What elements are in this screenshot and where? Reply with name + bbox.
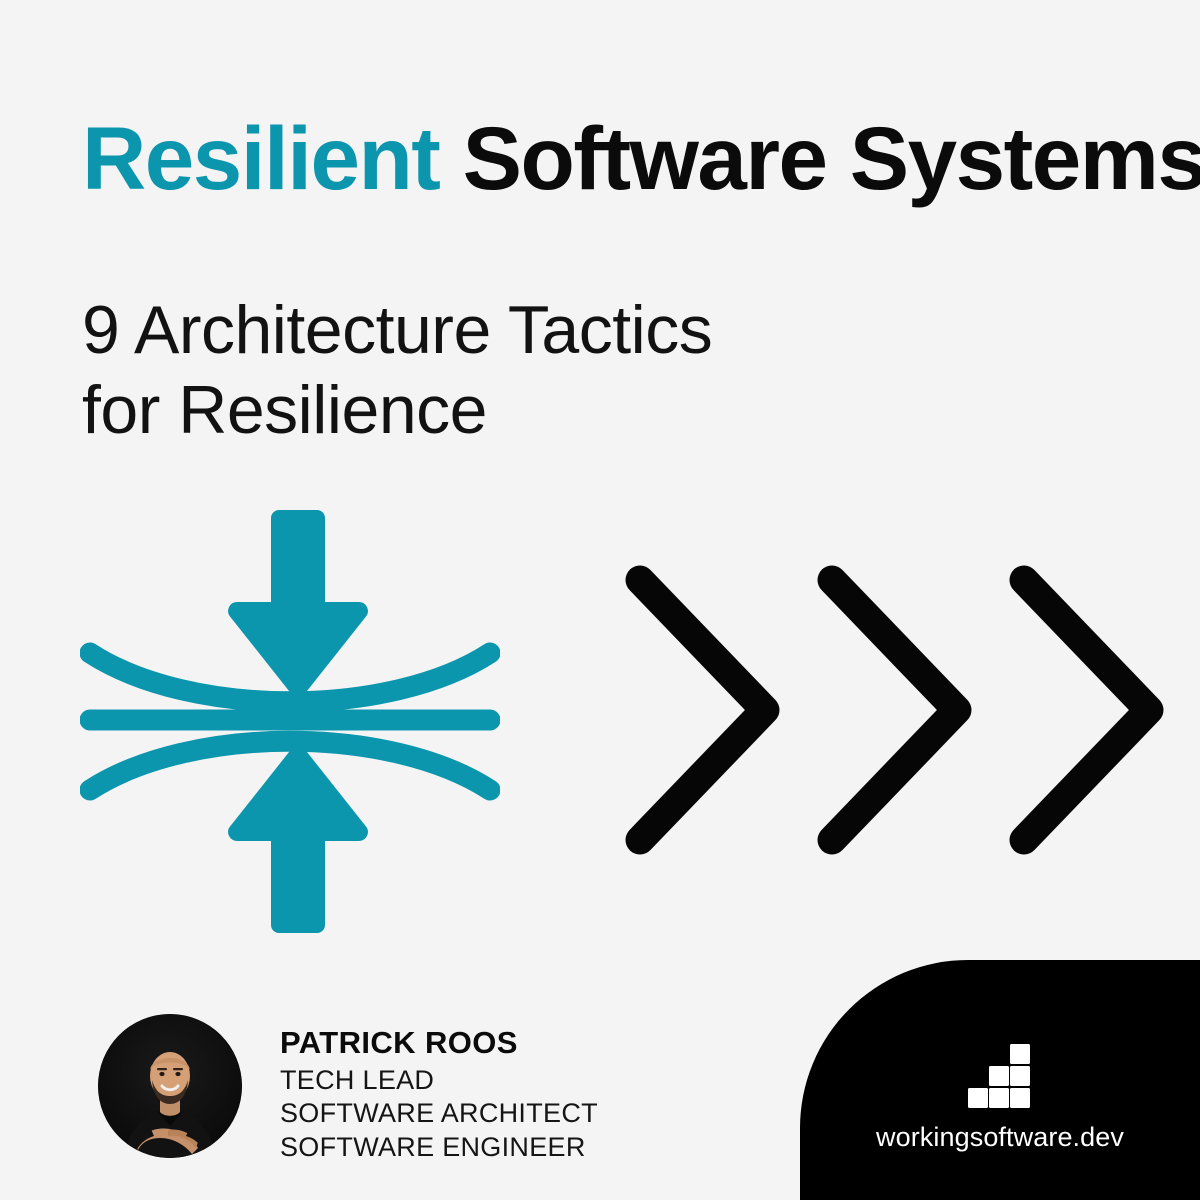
author-role-1: TECH LEAD	[280, 1064, 598, 1097]
page-title: Resilient Software Systems	[82, 112, 1200, 205]
chevron-3	[1024, 580, 1149, 840]
author-role-3: SOFTWARE ENGINEER	[280, 1131, 598, 1164]
poster-canvas: Resilient Software Systems 9 Architectur…	[0, 0, 1200, 1200]
author-block: PATRICK ROOS TECH LEAD SOFTWARE ARCHITEC…	[98, 1014, 598, 1164]
author-role-2: SOFTWARE ARCHITECT	[280, 1097, 598, 1130]
chevron-2	[832, 580, 957, 840]
author-name: PATRICK ROOS	[280, 1026, 598, 1061]
graphic-band	[0, 490, 1200, 960]
brand-badge[interactable]: workingsoftware.dev	[800, 960, 1200, 1200]
page-subtitle-line-2: for Resilience	[82, 370, 712, 450]
page-subtitle: 9 Architecture Tactics for Resilience	[82, 290, 712, 450]
brand-url[interactable]: workingsoftware.dev	[876, 1122, 1124, 1153]
triple-chevron-right-icon	[610, 555, 1170, 865]
chevron-1	[640, 580, 765, 840]
author-text: PATRICK ROOS TECH LEAD SOFTWARE ARCHITEC…	[280, 1014, 598, 1164]
resilience-compression-icon	[80, 490, 500, 950]
page-subtitle-line-1: 9 Architecture Tactics	[82, 290, 712, 370]
page-title-accent: Resilient	[82, 108, 439, 208]
staircase-blocks-logo	[968, 1044, 1032, 1108]
avatar	[98, 1014, 242, 1158]
page-title-rest: Software Systems	[439, 108, 1200, 208]
